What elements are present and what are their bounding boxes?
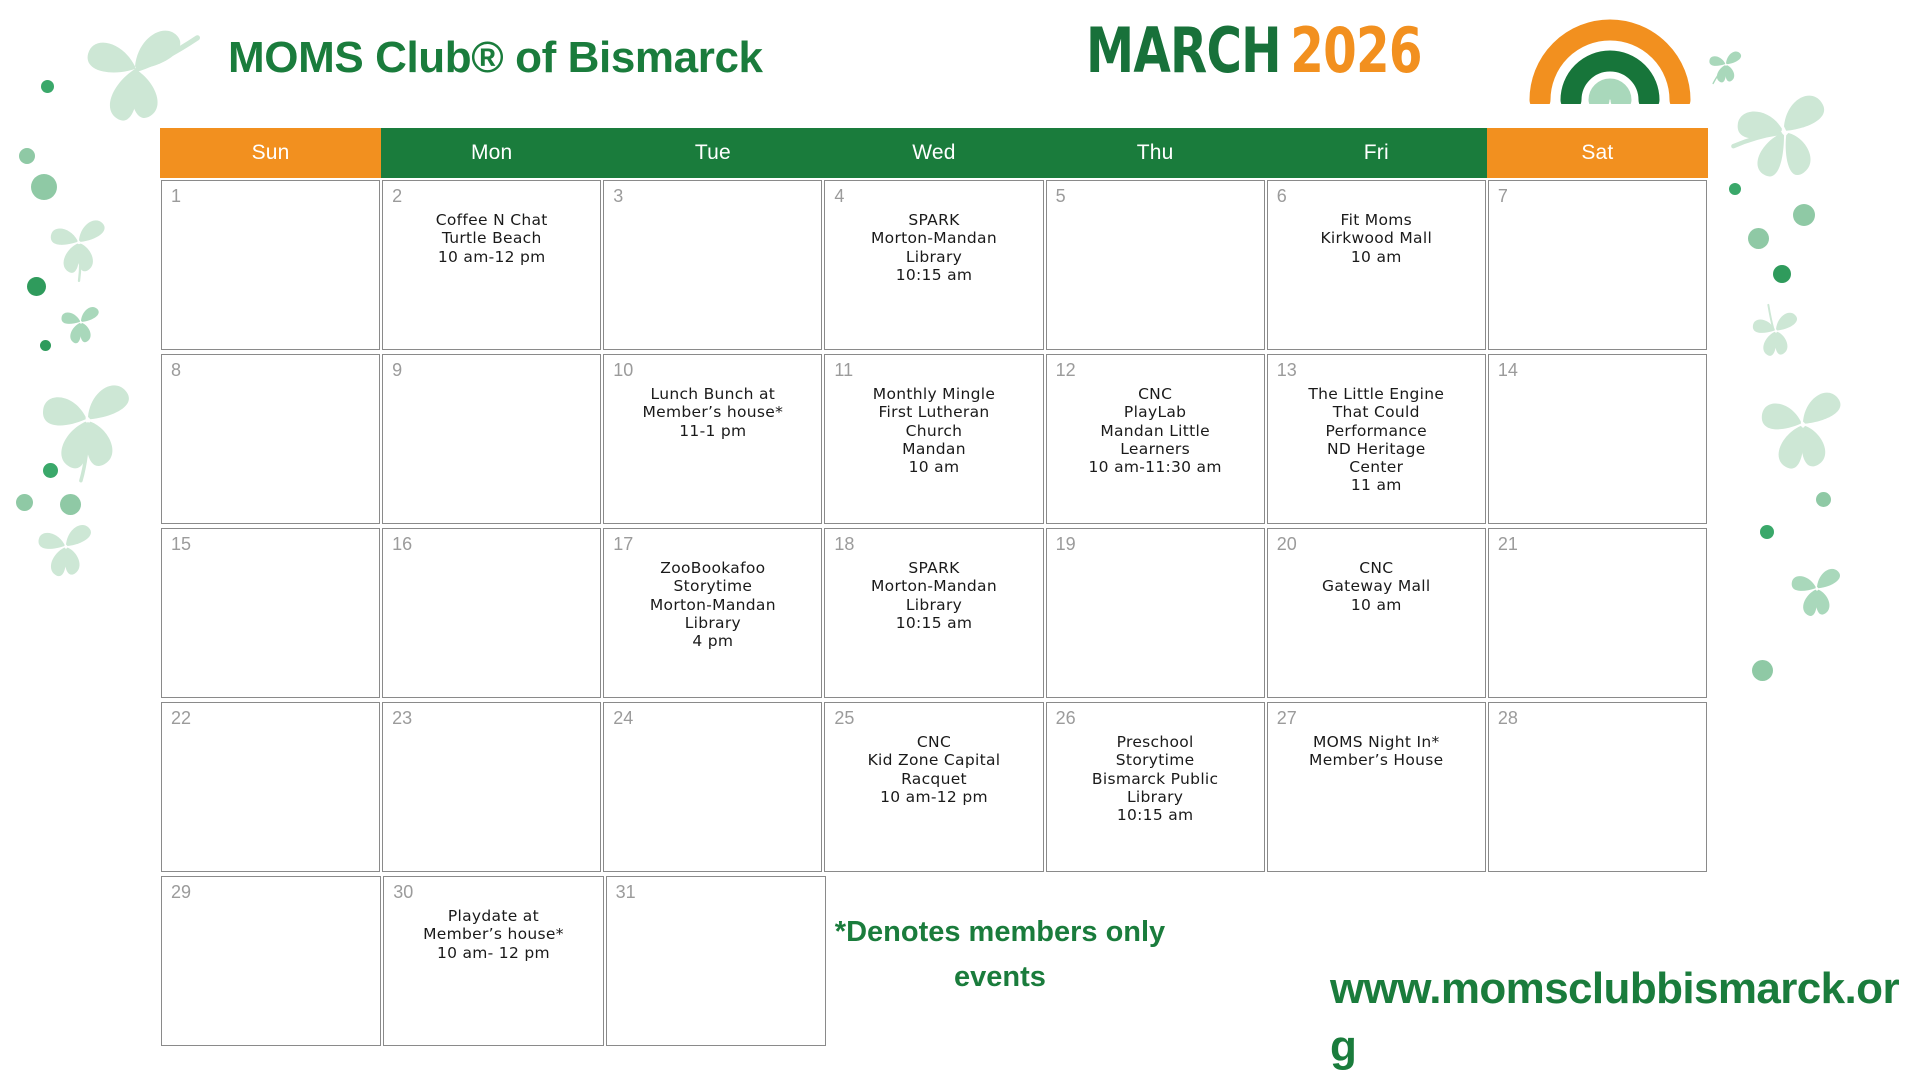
dow-thu: Thu xyxy=(1045,128,1266,178)
day-number: 15 xyxy=(171,534,191,555)
day-number: 12 xyxy=(1056,360,1076,381)
calendar-cell-15[interactable]: 15 xyxy=(161,528,380,698)
decor-dot xyxy=(1760,525,1774,539)
decor-dot xyxy=(31,174,57,200)
day-number: 11 xyxy=(834,360,853,381)
calendar-cell-12[interactable]: 12CNC PlayLab Mandan Little Learners 10 … xyxy=(1046,354,1265,524)
calendar-cell-19[interactable]: 19 xyxy=(1046,528,1265,698)
decor-dot xyxy=(19,148,35,164)
footnote-line-2: events xyxy=(780,955,1220,1000)
calendar-cell-18[interactable]: 18SPARK Morton-Mandan Library 10:15 am xyxy=(824,528,1043,698)
dow-sat: Sat xyxy=(1487,128,1708,178)
calendar-cell-14[interactable]: 14 xyxy=(1488,354,1707,524)
decor-dot xyxy=(43,463,58,478)
calendar-week-row: 12Coffee N Chat Turtle Beach 10 am-12 pm… xyxy=(160,178,1708,352)
calendar-cell-30[interactable]: 30Playdate at Member’s house* 10 am- 12 … xyxy=(383,876,603,1046)
calendar-cell-1[interactable]: 1 xyxy=(161,180,380,350)
day-number: 8 xyxy=(171,360,181,381)
decor-dot xyxy=(1752,660,1773,681)
day-number: 19 xyxy=(1056,534,1076,555)
calendar-week-row: 8910Lunch Bunch at Member’s house* 11-1 … xyxy=(160,352,1708,526)
calendar-cell-27[interactable]: 27MOMS Night In* Member’s House xyxy=(1267,702,1486,872)
day-number: 29 xyxy=(171,882,191,903)
year-label: 2026 xyxy=(1290,14,1421,87)
day-number: 28 xyxy=(1498,708,1518,729)
day-number: 3 xyxy=(613,186,623,207)
calendar-cell-25[interactable]: 25CNC Kid Zone Capital Racquet 10 am-12 … xyxy=(824,702,1043,872)
event-text: Fit Moms Kirkwood Mall 10 am xyxy=(1268,211,1485,266)
calendar-cell-20[interactable]: 20CNC Gateway Mall 10 am xyxy=(1267,528,1486,698)
day-number: 5 xyxy=(1056,186,1066,207)
calendar-cell-24[interactable]: 24 xyxy=(603,702,822,872)
day-number: 30 xyxy=(393,882,413,903)
day-number: 6 xyxy=(1277,186,1287,207)
dow-tue: Tue xyxy=(602,128,823,178)
calendar-cell-13[interactable]: 13The Little Engine That Could Performan… xyxy=(1267,354,1486,524)
decor-dot xyxy=(1793,204,1815,226)
clover-icon xyxy=(28,510,104,588)
event-text: Preschool Storytime Bismarck Public Libr… xyxy=(1047,733,1264,824)
decor-dot xyxy=(1773,265,1791,283)
calendar-cell-21[interactable]: 21 xyxy=(1488,528,1707,698)
event-text: CNC Gateway Mall 10 am xyxy=(1268,559,1485,614)
day-number: 17 xyxy=(613,534,633,555)
day-number: 25 xyxy=(834,708,854,729)
day-number: 18 xyxy=(834,534,854,555)
dow-mon: Mon xyxy=(381,128,602,178)
day-number: 14 xyxy=(1498,360,1518,381)
decor-dot xyxy=(40,340,51,351)
dow-sun: Sun xyxy=(160,128,381,178)
calendar-cell-2[interactable]: 2Coffee N Chat Turtle Beach 10 am-12 pm xyxy=(382,180,601,350)
decor-dot xyxy=(1816,492,1831,507)
day-number: 9 xyxy=(392,360,402,381)
event-text: SPARK Morton-Mandan Library 10:15 am xyxy=(825,211,1042,284)
day-number: 1 xyxy=(171,186,181,207)
event-text: The Little Engine That Could Performance… xyxy=(1268,385,1485,495)
day-number: 2 xyxy=(392,186,402,207)
decor-dot xyxy=(27,277,46,296)
calendar-cell-11[interactable]: 11Monthly Mingle First Lutheran Church M… xyxy=(824,354,1043,524)
event-text: SPARK Morton-Mandan Library 10:15 am xyxy=(825,559,1042,632)
dow-wed: Wed xyxy=(823,128,1044,178)
calendar-cell-17[interactable]: 17ZooBookafoo Storytime Morton-Mandan Li… xyxy=(603,528,822,698)
event-text: CNC Kid Zone Capital Racquet 10 am-12 pm xyxy=(825,733,1042,806)
event-text: Monthly Mingle First Lutheran Church Man… xyxy=(825,385,1042,476)
day-number: 7 xyxy=(1498,186,1508,207)
rainbow-icon xyxy=(1526,8,1694,104)
footnote-line-1: *Denotes members only xyxy=(780,910,1220,955)
decor-dot xyxy=(1729,183,1741,195)
calendar-cell-4[interactable]: 4SPARK Morton-Mandan Library 10:15 am xyxy=(824,180,1043,350)
clover-icon xyxy=(40,205,118,285)
month-label: MARCH xyxy=(1086,14,1281,87)
calendar-cell-23[interactable]: 23 xyxy=(382,702,601,872)
calendar-week-row: 22232425CNC Kid Zone Capital Racquet 10 … xyxy=(160,700,1708,874)
clover-icon xyxy=(1782,555,1852,627)
decor-dot xyxy=(60,494,81,515)
day-number: 21 xyxy=(1498,534,1518,555)
day-of-week-header: Sun Mon Tue Wed Thu Fri Sat xyxy=(160,128,1708,178)
website-url[interactable]: www.momsclubbismarck.org xyxy=(1330,960,1910,1076)
day-number: 22 xyxy=(171,708,191,729)
day-number: 4 xyxy=(834,186,844,207)
calendar-cell-10[interactable]: 10Lunch Bunch at Member’s house* 11-1 pm xyxy=(603,354,822,524)
day-number: 27 xyxy=(1277,708,1297,729)
day-number: 26 xyxy=(1056,708,1076,729)
event-text: ZooBookafoo Storytime Morton-Mandan Libr… xyxy=(604,559,821,650)
day-number: 23 xyxy=(392,708,412,729)
calendar-cell-28[interactable]: 28 xyxy=(1488,702,1707,872)
event-text: Playdate at Member’s house* 10 am- 12 pm xyxy=(384,907,602,962)
event-text: MOMS Night In* Member’s House xyxy=(1268,733,1485,770)
calendar-cell-7[interactable]: 7 xyxy=(1488,180,1707,350)
calendar-cell-5[interactable]: 5 xyxy=(1046,180,1265,350)
calendar-cell-22[interactable]: 22 xyxy=(161,702,380,872)
calendar-cell-29[interactable]: 29 xyxy=(161,876,381,1046)
calendar-cell-3[interactable]: 3 xyxy=(603,180,822,350)
clover-icon xyxy=(1748,374,1858,482)
calendar-cell-16[interactable]: 16 xyxy=(382,528,601,698)
day-number: 20 xyxy=(1277,534,1297,555)
event-text: Lunch Bunch at Member’s house* 11-1 pm xyxy=(604,385,821,440)
calendar-cell-9[interactable]: 9 xyxy=(382,354,601,524)
calendar-cell-26[interactable]: 26Preschool Storytime Bismarck Public Li… xyxy=(1046,702,1265,872)
clover-icon xyxy=(28,365,148,483)
clover-icon xyxy=(1744,300,1808,366)
decor-dot xyxy=(16,494,33,511)
month-year-title: MARCH2026 xyxy=(1086,14,1422,87)
clover-icon xyxy=(54,296,108,352)
day-number: 24 xyxy=(613,708,633,729)
day-number: 16 xyxy=(392,534,412,555)
dow-fri: Fri xyxy=(1266,128,1487,178)
decor-dot xyxy=(1748,228,1769,249)
calendar-cell-8[interactable]: 8 xyxy=(161,354,380,524)
page-title: MOMS Club® of Bismarck xyxy=(228,33,763,83)
day-number: 31 xyxy=(616,882,636,903)
day-number: 13 xyxy=(1277,360,1297,381)
event-text: Coffee N Chat Turtle Beach 10 am-12 pm xyxy=(383,211,600,266)
page-header: MOMS Club® of Bismarck MARCH2026 xyxy=(0,0,1920,128)
calendar-cell-6[interactable]: 6Fit Moms Kirkwood Mall 10 am xyxy=(1267,180,1486,350)
day-number: 10 xyxy=(613,360,633,381)
event-text: CNC PlayLab Mandan Little Learners 10 am… xyxy=(1047,385,1264,476)
members-only-footnote: *Denotes members only events xyxy=(780,910,1220,1000)
calendar-week-row: 151617ZooBookafoo Storytime Morton-Manda… xyxy=(160,526,1708,700)
